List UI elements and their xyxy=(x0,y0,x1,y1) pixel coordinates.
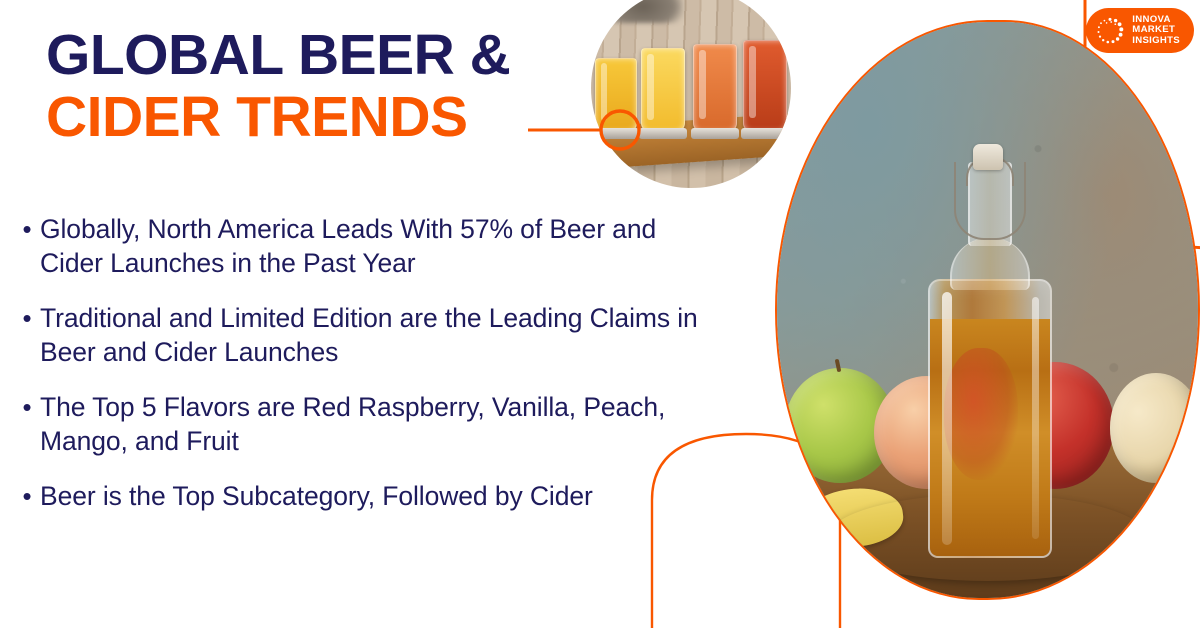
halved-apple xyxy=(1110,373,1200,482)
tasting-glass-1 xyxy=(595,58,637,132)
tasting-glass-2 xyxy=(641,48,685,132)
cider-bottle-photo xyxy=(775,20,1200,600)
glass-base xyxy=(691,128,740,139)
list-item: • Globally, North America Leads With 57%… xyxy=(14,212,714,280)
bullet-marker-icon: • xyxy=(14,390,40,424)
bottle-highlight-left xyxy=(942,292,953,545)
key-findings-list: • Globally, North America Leads With 57%… xyxy=(14,212,714,534)
glass-base xyxy=(593,128,639,139)
bullet-marker-icon: • xyxy=(14,301,40,335)
logo-line-3: INSIGHTS xyxy=(1132,36,1180,47)
tasting-glass-3 xyxy=(693,44,737,132)
innova-market-insights-logo[interactable]: INNOVA MARKET INSIGHTS xyxy=(1086,8,1194,53)
bottle-body xyxy=(928,279,1052,558)
bullet-marker-icon: • xyxy=(14,479,40,513)
flight-scene xyxy=(591,0,791,188)
beer-flight-photo xyxy=(591,0,791,188)
list-item-text: Traditional and Limited Edition are the … xyxy=(40,301,714,369)
list-item-text: Beer is the Top Subcategory, Followed by… xyxy=(40,479,714,513)
bullet-marker-icon: • xyxy=(14,212,40,246)
list-item: • Traditional and Limited Edition are th… xyxy=(14,301,714,369)
title-line-1: GLOBAL BEER & xyxy=(46,26,510,84)
ceramic-stopper xyxy=(973,144,1003,170)
glass-base xyxy=(741,128,790,139)
dot-ring-icon xyxy=(1095,16,1125,46)
swing-top-bottle xyxy=(928,128,1048,558)
tasting-glass-4 xyxy=(743,40,787,132)
list-item-text: The Top 5 Flavors are Red Raspberry, Van… xyxy=(40,390,714,458)
logo-wordmark: INNOVA MARKET INSIGHTS xyxy=(1132,15,1180,47)
title-line-2: CIDER TRENDS xyxy=(46,88,510,146)
page-title: GLOBAL BEER & CIDER TRENDS xyxy=(46,26,510,146)
bottle-highlight-right xyxy=(1032,297,1039,539)
glass-base xyxy=(639,128,688,139)
list-item: • Beer is the Top Subcategory, Followed … xyxy=(14,479,714,513)
infographic-canvas: GLOBAL BEER & CIDER TRENDS • Globally, N… xyxy=(0,0,1200,628)
list-item-text: Globally, North America Leads With 57% o… xyxy=(40,212,714,280)
list-item: • The Top 5 Flavors are Red Raspberry, V… xyxy=(14,390,714,458)
